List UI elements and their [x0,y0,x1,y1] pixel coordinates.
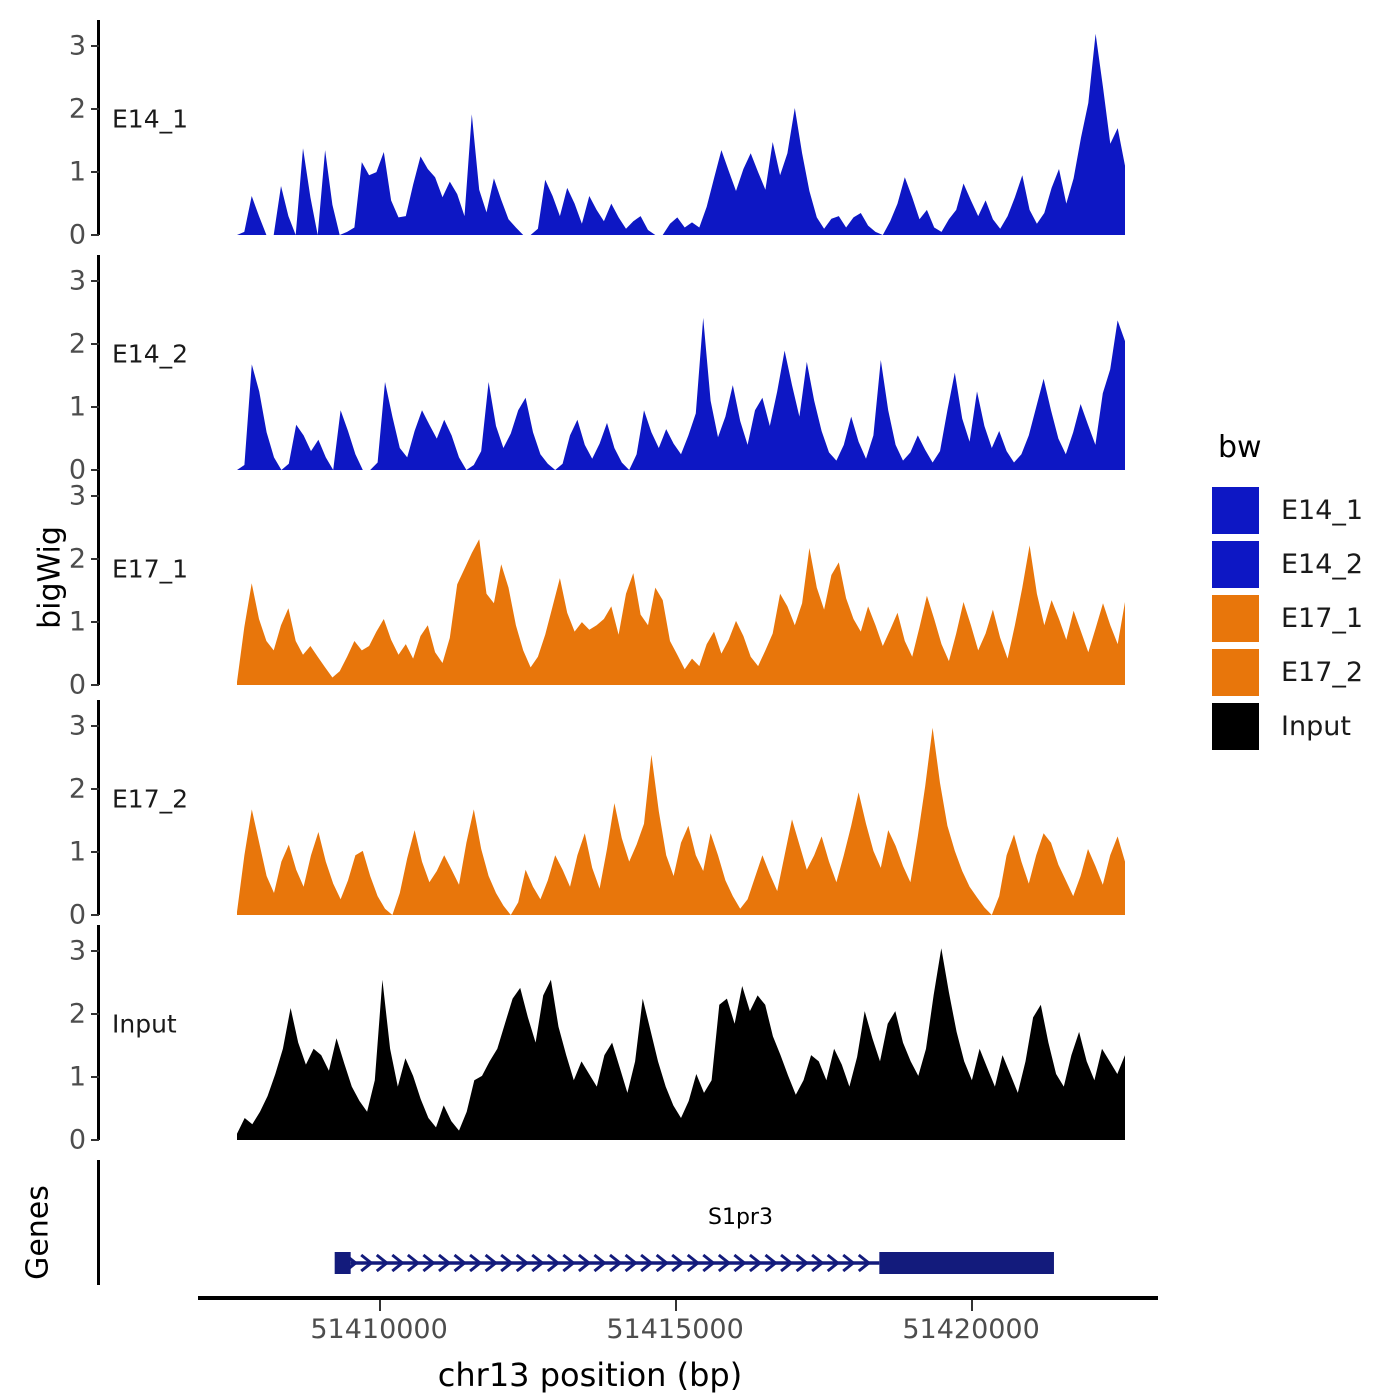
legend-label: E14_2 [1281,549,1363,580]
legend-swatch-e14_2 [1212,541,1259,588]
legend-item-e17_2[interactable]: E17_2 [1212,645,1392,699]
legend-item-e17_1[interactable]: E17_1 [1212,591,1392,645]
legend-item-e14_2[interactable]: E14_2 [1212,537,1392,591]
coverage-profile-input [0,925,1160,1140]
legend-swatch-e17_2 [1212,649,1259,696]
legend-title: bw [1218,430,1392,465]
coverage-profile-e14_2 [0,255,1160,470]
legend-swatch-e14_1 [1212,487,1259,534]
track-e14_2: 0123E14_2 [0,255,1160,470]
coverage-profile-e17_1 [0,470,1160,685]
coverage-area [237,318,1125,470]
coverage-profile-e14_1 [0,20,1160,235]
legend-label: E17_2 [1281,657,1363,688]
coverage-area [237,34,1125,235]
track-input: 0123Input [0,925,1160,1140]
x-tick-label: 51420000 [902,1314,1039,1345]
x-tick-label: 51415000 [606,1314,743,1345]
legend: bw E14_1E14_2E17_1E17_2Input [1212,430,1392,753]
track-e14_1: 0123E14_1 [0,20,1160,235]
gene-exon-1[interactable] [335,1252,351,1274]
track-e17_1: 0123E17_1 [0,470,1160,685]
legend-items: E14_1E14_2E17_1E17_2Input [1212,483,1392,753]
legend-swatch-input [1212,703,1259,750]
legend-swatch-e17_1 [1212,595,1259,642]
coverage-area [237,728,1125,915]
coverage-profile-e17_2 [0,700,1160,915]
x-tick-label: 51410000 [310,1314,447,1345]
legend-label: E14_1 [1281,495,1363,526]
track-e17_2: 0123E17_2 [0,700,1160,915]
x-tick [675,1300,677,1311]
legend-label: E17_1 [1281,603,1363,634]
x-tick [971,1300,973,1311]
coverage-area [237,539,1125,685]
x-tick [379,1300,381,1311]
gene-name-label: S1pr3 [708,1205,773,1230]
gene-model [0,1246,1180,1280]
x-axis-title: chr13 position (bp) [0,1356,1180,1394]
legend-item-input[interactable]: Input [1212,699,1392,753]
coverage-area [237,948,1125,1140]
x-axis: 514100005141500051420000 chr13 position … [0,1296,1180,1396]
gene-exon-2[interactable] [879,1252,1054,1274]
x-axis-line [198,1296,1158,1300]
legend-item-e14_1[interactable]: E14_1 [1212,483,1392,537]
legend-label: Input [1281,711,1351,742]
